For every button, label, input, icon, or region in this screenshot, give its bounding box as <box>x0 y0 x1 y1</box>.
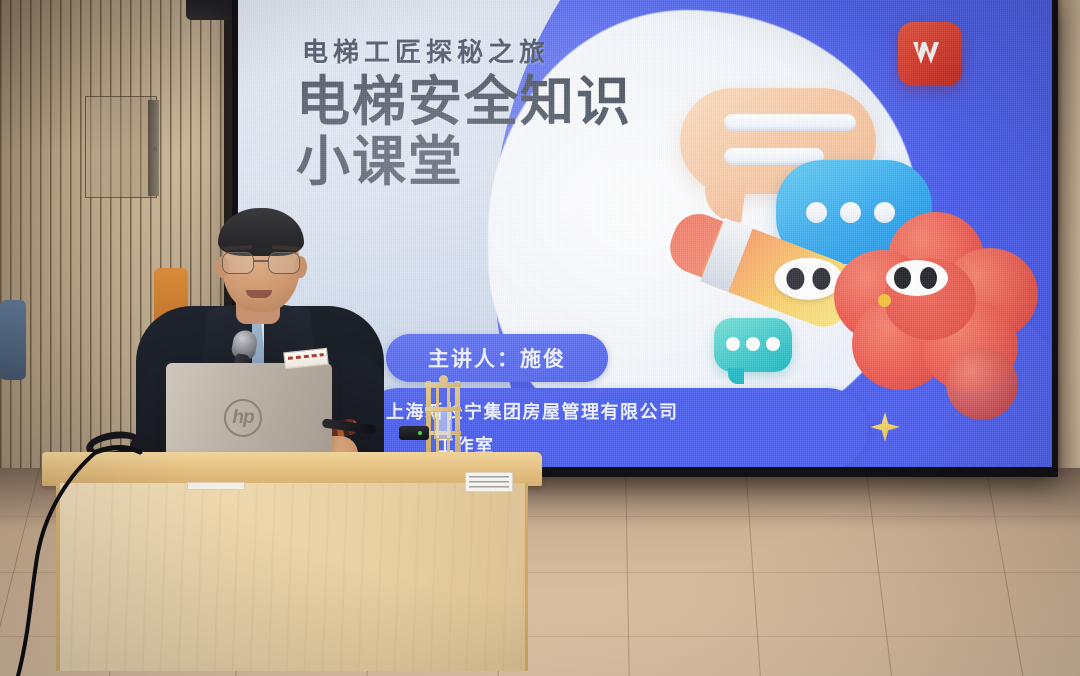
bubble-dot <box>726 337 740 351</box>
slide-title: 电梯安全知识 小课堂 <box>296 72 632 193</box>
wall-panel-screw <box>153 147 157 151</box>
desk-asset-label-text <box>469 476 509 488</box>
pencil-eye <box>786 268 804 290</box>
pencil-eyes <box>774 258 842 300</box>
hp-logo-icon: hp <box>224 399 262 437</box>
wall-access-panel <box>85 96 157 198</box>
flower-beak <box>878 294 891 307</box>
flower-eyes <box>886 260 948 296</box>
flower-eye <box>920 267 937 289</box>
bubble-line <box>724 114 856 131</box>
speaker-pill: 主讲人：施俊 <box>386 334 608 382</box>
speech-bubble-teal-icon <box>714 318 792 372</box>
wall-panel-edge <box>148 100 159 196</box>
side-chair <box>0 300 26 380</box>
bubble-dot <box>746 337 760 351</box>
wps-w-glyph <box>910 38 950 70</box>
glasses-lens-right <box>268 252 300 274</box>
slide-title-line1: 电梯安全知识 <box>296 72 632 132</box>
bubble-dot <box>766 337 780 351</box>
model-post <box>426 381 431 457</box>
glasses-lens-left <box>222 252 254 274</box>
desk-asset-label <box>465 472 513 492</box>
presenter-remote <box>399 426 429 440</box>
model-crossbar <box>425 383 461 387</box>
slide-subtitle: 电梯工匠探秘之旅 <box>302 32 550 69</box>
flower-eye <box>894 267 911 289</box>
bubble-dot <box>806 202 827 223</box>
slide-title-line2: 小课堂 <box>296 132 632 192</box>
power-cable <box>0 440 330 676</box>
pencil-eye <box>812 268 830 290</box>
mouth <box>246 290 272 298</box>
elevator-model <box>424 381 462 457</box>
wps-logo-icon <box>898 22 962 86</box>
red-orb-shape <box>946 348 1018 420</box>
model-elevator-car <box>434 411 452 439</box>
eyeglasses-icon <box>220 252 304 276</box>
photo-scene: 电梯工匠探秘之旅 电梯安全知识 小课堂 主讲人：施俊 上海新长宁集团房屋管理有限… <box>0 0 1080 676</box>
glasses-bridge <box>254 260 268 262</box>
model-post <box>455 381 460 457</box>
